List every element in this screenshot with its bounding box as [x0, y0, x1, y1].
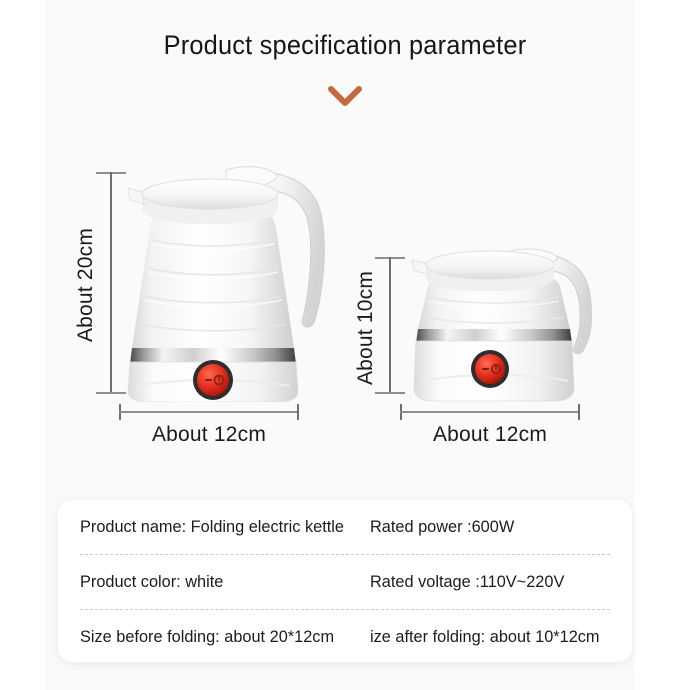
specification-table: Product name: Folding electric kettle Ra…: [58, 500, 632, 662]
folded-height-label: About 10cm: [354, 258, 378, 398]
table-row: Product color: white Rated voltage :110V…: [80, 555, 610, 609]
unfolded-width-dimension-line: [119, 404, 299, 420]
spec-rated-voltage: Rated voltage :110V~220V: [370, 572, 600, 592]
folded-width-label: About 12cm: [400, 423, 580, 447]
spec-product-name: Product name: Folding electric kettle: [80, 517, 358, 537]
spec-size-after-folding: ize after folding: about 10*12cm: [370, 627, 600, 647]
chevron-down-icon: [327, 82, 363, 112]
table-row: Size before folding: about 20*12cm ize a…: [80, 610, 610, 664]
unfolded-height-dimension-line: [96, 172, 126, 394]
spec-product-color: Product color: white: [80, 572, 358, 592]
kettle-unfolded-image: [118, 152, 348, 402]
folded-width-dimension-line: [400, 404, 580, 420]
spec-size-before-folding: Size before folding: about 20*12cm: [80, 627, 358, 647]
product-specification-page: Product specification parameter: [0, 0, 690, 690]
page-title: Product specification parameter: [21, 30, 670, 61]
table-row: Product name: Folding electric kettle Ra…: [80, 500, 610, 554]
folded-height-dimension-line: [375, 257, 405, 394]
kettle-folded-image: [400, 243, 612, 403]
spec-rated-power: Rated power :600W: [370, 517, 600, 537]
unfolded-height-label: About 20cm: [74, 215, 98, 355]
unfolded-width-label: About 12cm: [119, 423, 299, 447]
